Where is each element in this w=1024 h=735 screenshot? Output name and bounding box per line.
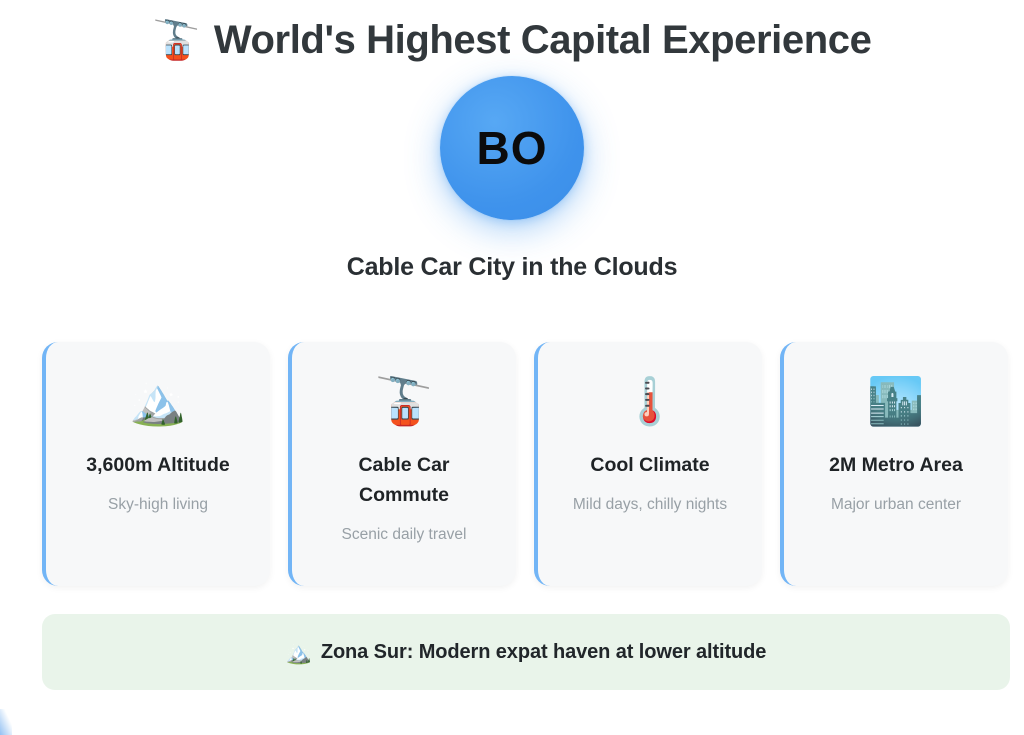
info-banner-text: Zona Sur: Modern expat haven at lower al… <box>321 641 766 664</box>
feature-card-list: 🏔️ 3,600m Altitude Sky-high living 🚡 Cab… <box>42 342 1024 586</box>
snow-capped-mountain-icon: 🏔️ <box>129 372 186 430</box>
page-header: 🚡 World's Highest Capital Experience <box>0 0 1024 58</box>
info-banner: 🏔️ Zona Sur: Modern expat haven at lower… <box>42 614 1010 690</box>
avatar-initials: BO <box>477 121 548 175</box>
feature-card-title: 2M Metro Area <box>829 450 963 480</box>
aerial-tramway-icon: 🚡 <box>153 22 200 60</box>
page-subtitle: Cable Car City in the Clouds <box>0 253 1024 282</box>
avatar: BO <box>440 76 584 220</box>
feature-card-subtitle: Scenic daily travel <box>342 524 467 546</box>
aerial-tramway-icon: 🚡 <box>375 372 432 430</box>
feature-card-climate[interactable]: 🌡️ Cool Climate Mild days, chilly nights <box>534 342 762 586</box>
snow-capped-mountain-icon: 🏔️ <box>286 643 312 664</box>
feature-card-title: Cool Climate <box>590 450 709 480</box>
feature-card-subtitle: Major urban center <box>831 494 961 516</box>
corner-artifact <box>0 709 12 735</box>
feature-card-subtitle: Sky-high living <box>108 494 208 516</box>
page-root: 🚡 World's Highest Capital Experience BO … <box>0 0 1024 735</box>
avatar-container: BO <box>0 76 1024 220</box>
feature-card-altitude[interactable]: 🏔️ 3,600m Altitude Sky-high living <box>42 342 270 586</box>
cityscape-buildings-icon: 🏙️ <box>867 372 924 430</box>
thermometer-icon: 🌡️ <box>621 372 678 430</box>
feature-card-metro-area[interactable]: 🏙️ 2M Metro Area Major urban center <box>780 342 1008 586</box>
page-title: World's Highest Capital Experience <box>214 18 872 63</box>
feature-card-subtitle: Mild days, chilly nights <box>573 494 727 516</box>
feature-card-title: Cable Car Commute <box>329 450 479 510</box>
feature-card-title: 3,600m Altitude <box>86 450 229 480</box>
feature-card-cable-car[interactable]: 🚡 Cable Car Commute Scenic daily travel <box>288 342 516 586</box>
